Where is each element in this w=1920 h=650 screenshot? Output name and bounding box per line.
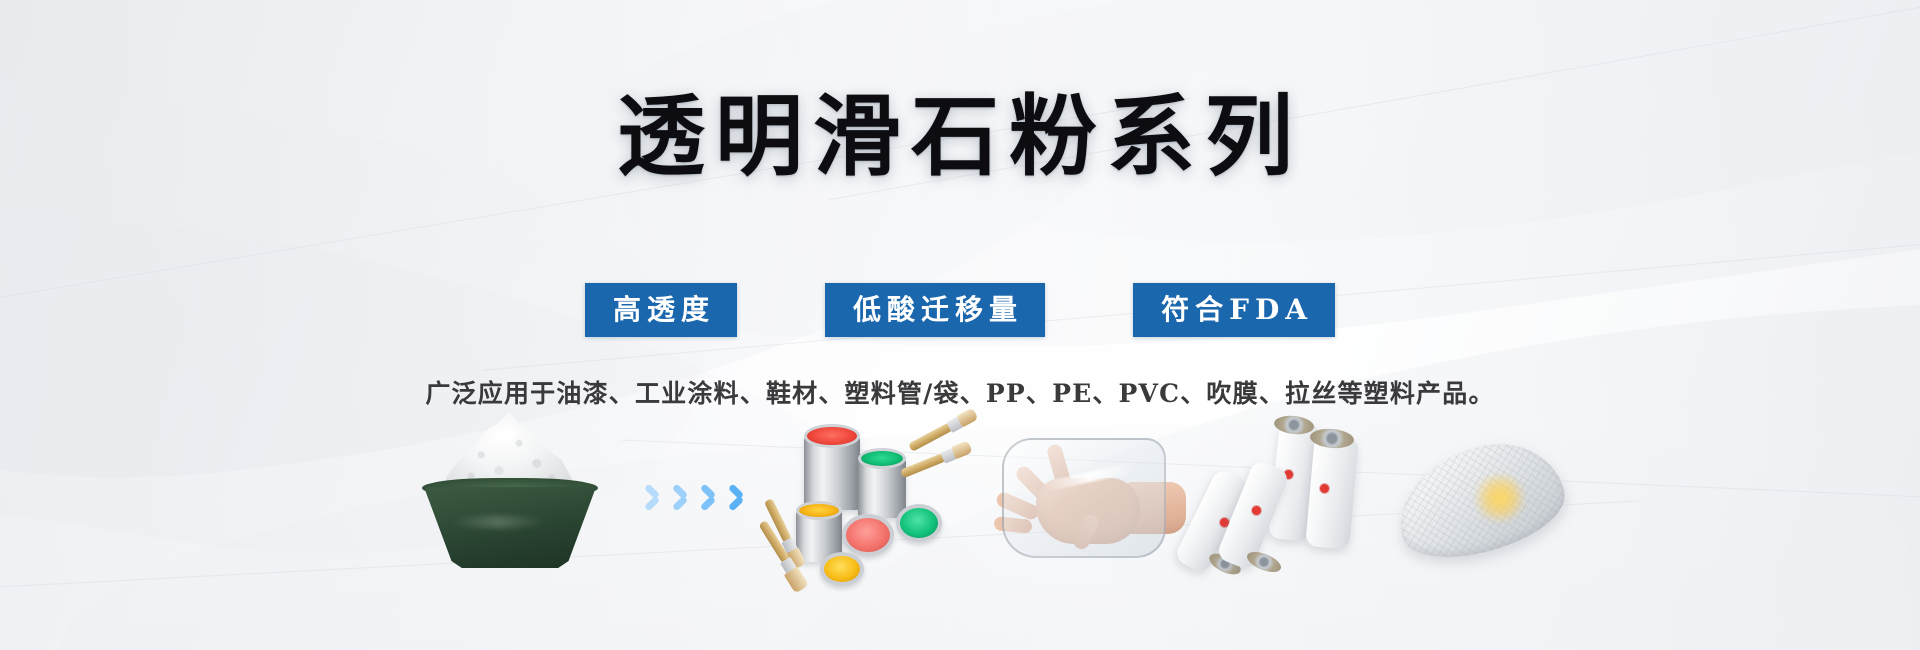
paint-cans-image [780,418,990,598]
paint-can-green-surface [858,448,906,469]
shoe-sole-image [1390,430,1570,580]
feature-badge-high-transparency[interactable]: 高透度 [585,283,737,337]
film-roll-core [1244,548,1283,576]
feature-badge-fda-compliant[interactable]: 符合FDA [1133,283,1335,337]
plastic-glove-image [1000,436,1190,576]
product-application-strip [0,430,1920,610]
film-roll-back-right [1305,434,1359,549]
bowl-highlight [450,516,546,528]
talc-powder-bowl-image [410,420,610,570]
paint-lid-yellow [820,552,864,586]
page-title: 透明滑石粉系列 [0,92,1920,180]
chevron-right-icon [696,476,722,520]
product-banner: 透明滑石粉系列 高透度 低酸迁移量 符合FDA 广泛应用于油漆、工业涂料、鞋材、… [0,0,1920,650]
feature-badge-group: 高透度 低酸迁移量 符合FDA [0,283,1920,337]
plastic-film-rolls-image [1190,414,1380,594]
process-arrows-icon [640,468,770,528]
paint-can-red-surface [804,424,860,448]
film-roll-label-dot [1320,484,1329,493]
paint-can-yellow-surface [796,501,842,520]
paint-lid-green [896,504,942,542]
chevron-right-icon [668,476,694,520]
transparent-glove-film [1002,438,1166,558]
application-description: 广泛应用于油漆、工业涂料、鞋材、塑料管/袋、PP、PE、PVC、吹膜、拉丝等塑料… [0,374,1920,410]
paint-lid-pink [842,514,894,556]
feature-badge-low-acid-migration[interactable]: 低酸迁移量 [825,283,1045,337]
chevron-right-icon [640,476,666,520]
shoe-sole-glow [1472,474,1528,522]
film-roll-label-dot [1252,506,1261,515]
chevron-right-icon [724,476,750,520]
